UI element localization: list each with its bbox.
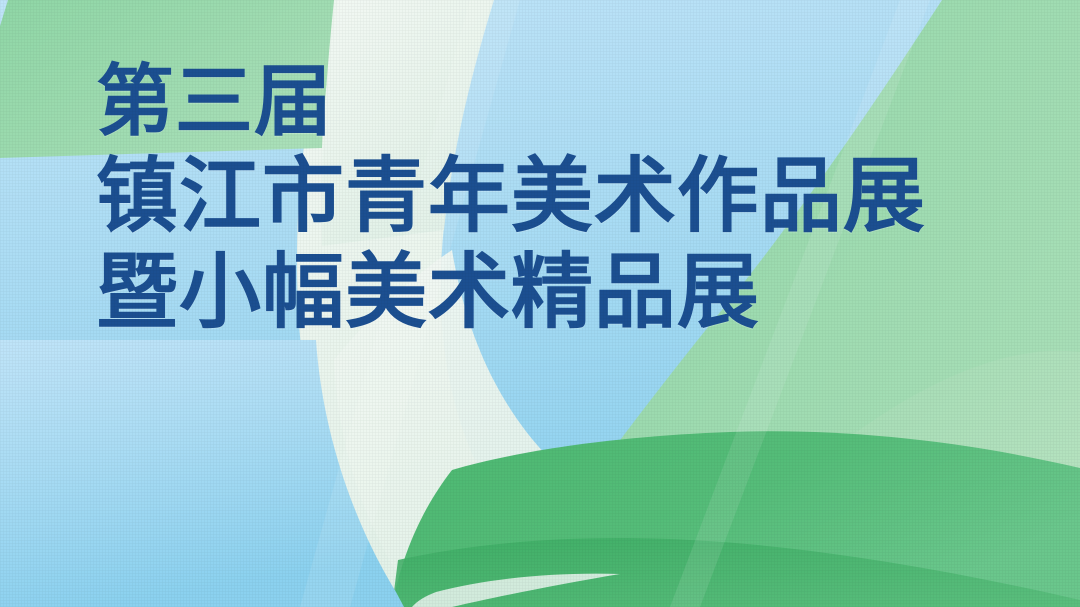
title-line-3: 暨小幅美术精品展 [96,252,926,334]
poster-canvas: 第三届 镇江市青年美术作品展 暨小幅美术精品展 [0,0,1080,607]
title-line-1: 第三届 [96,62,926,140]
title-line-2: 镇江市青年美术作品展 [96,156,926,238]
poster-title-block: 第三届 镇江市青年美术作品展 暨小幅美术精品展 [96,62,926,334]
